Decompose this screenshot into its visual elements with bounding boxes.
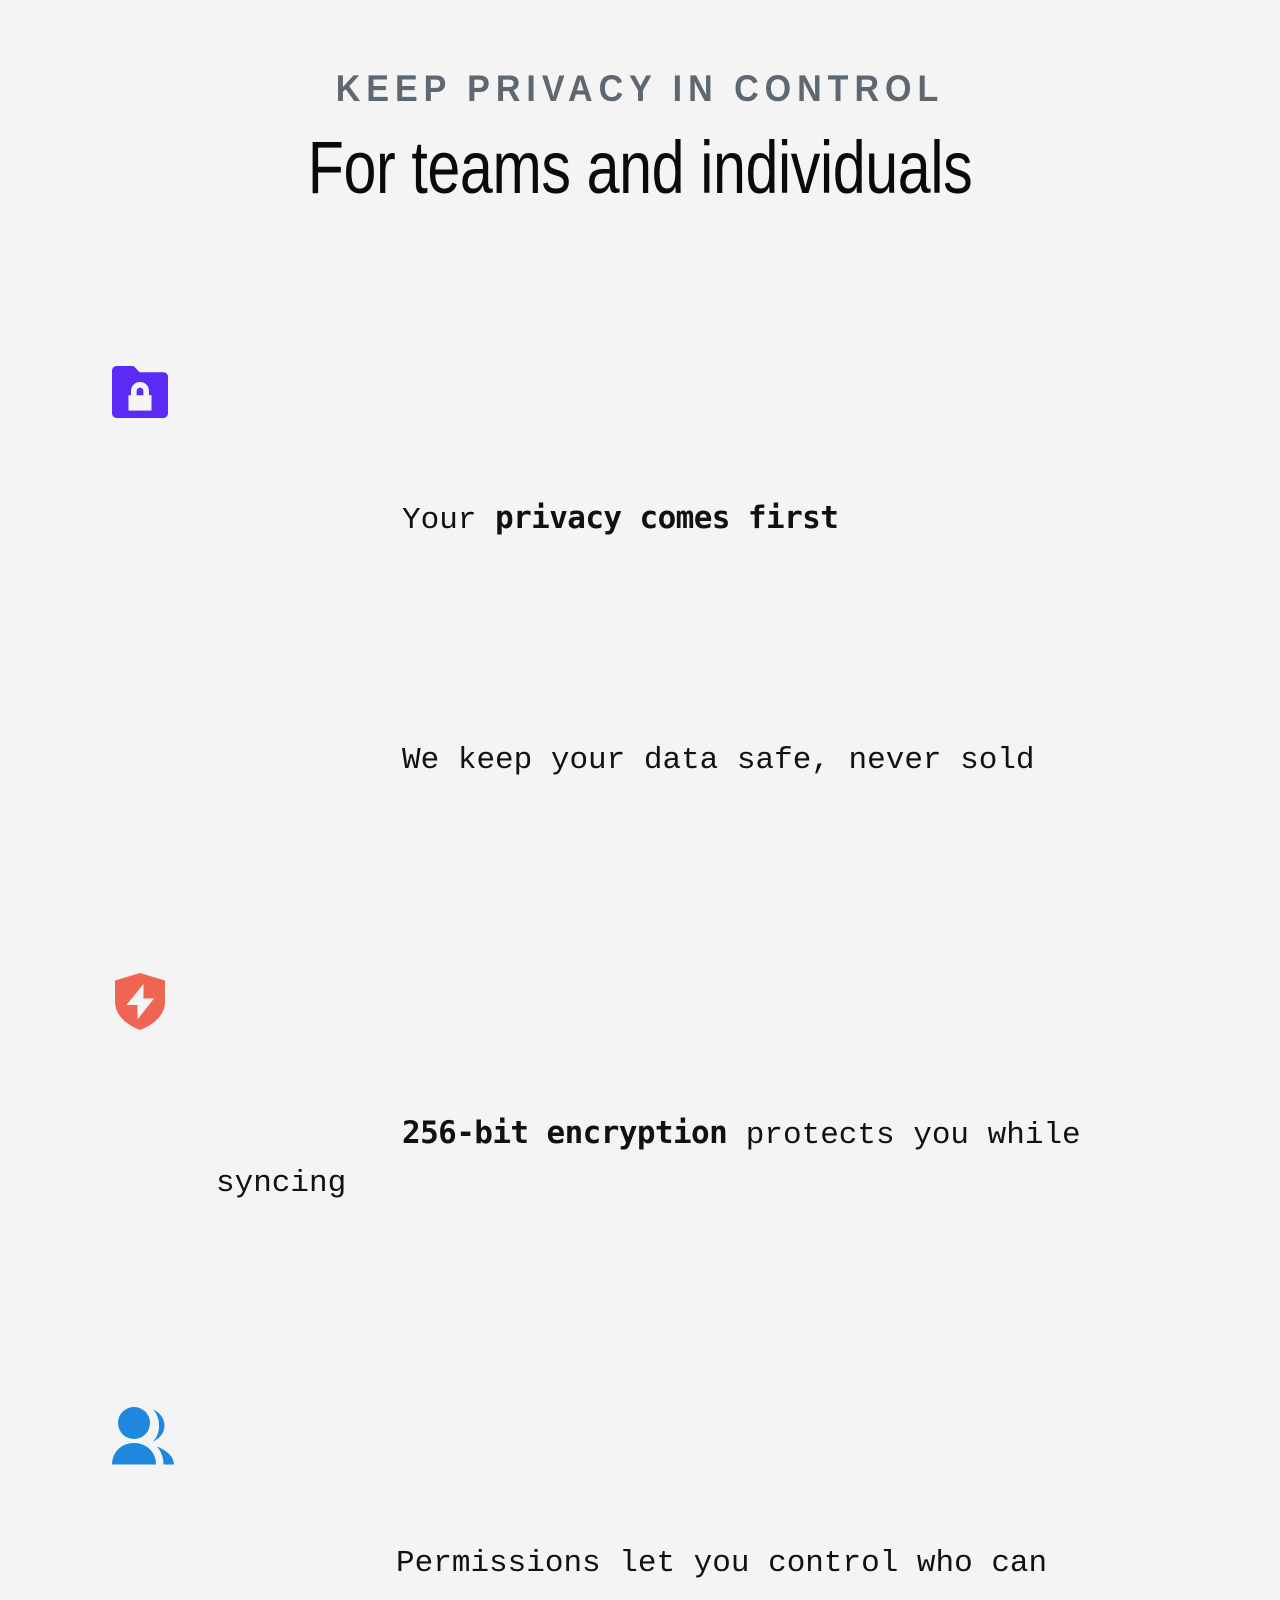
list-item-line: We keep your data safe, never sold <box>216 689 1035 833</box>
text-regular: Your <box>402 503 495 538</box>
shield-bolt-icon <box>108 969 172 1033</box>
slide-header: Keep privacy in control For teams and in… <box>0 0 1280 207</box>
folder-lock-icon <box>108 360 172 424</box>
text-regular: We keep your data safe, never sold <box>402 743 1035 778</box>
list-item: 256-bit encryption protects you while sy… <box>108 965 1228 1352</box>
list-item-text: Permissions let you control who can acce… <box>210 1396 1047 1600</box>
people-icon <box>108 1406 172 1470</box>
list-item-text: Your privacy comes first We keep your da… <box>216 350 1035 929</box>
feature-list: Your privacy comes first We keep your da… <box>108 350 1228 1600</box>
list-item-line: Your privacy comes first <box>216 446 1035 593</box>
list-item-line: Permissions let you control who can <box>210 1492 1047 1600</box>
page-title: For teams and individuals <box>128 129 1152 207</box>
slide-canvas: Keep privacy in control For teams and in… <box>0 0 1280 800</box>
list-item-text: 256-bit encryption protects you while sy… <box>216 965 1228 1352</box>
text-bold: 256-bit encryption <box>402 1115 727 1151</box>
list-item: Permissions let you control who can acce… <box>108 1396 1228 1600</box>
text-bold: privacy comes first <box>495 500 838 536</box>
list-item: Your privacy comes first We keep your da… <box>108 350 1228 929</box>
list-item-line: 256-bit encryption protects you while sy… <box>216 1061 1228 1256</box>
eyebrow-text: Keep privacy in control <box>51 70 1229 107</box>
text-regular: Permissions let you control who can <box>396 1546 1047 1581</box>
